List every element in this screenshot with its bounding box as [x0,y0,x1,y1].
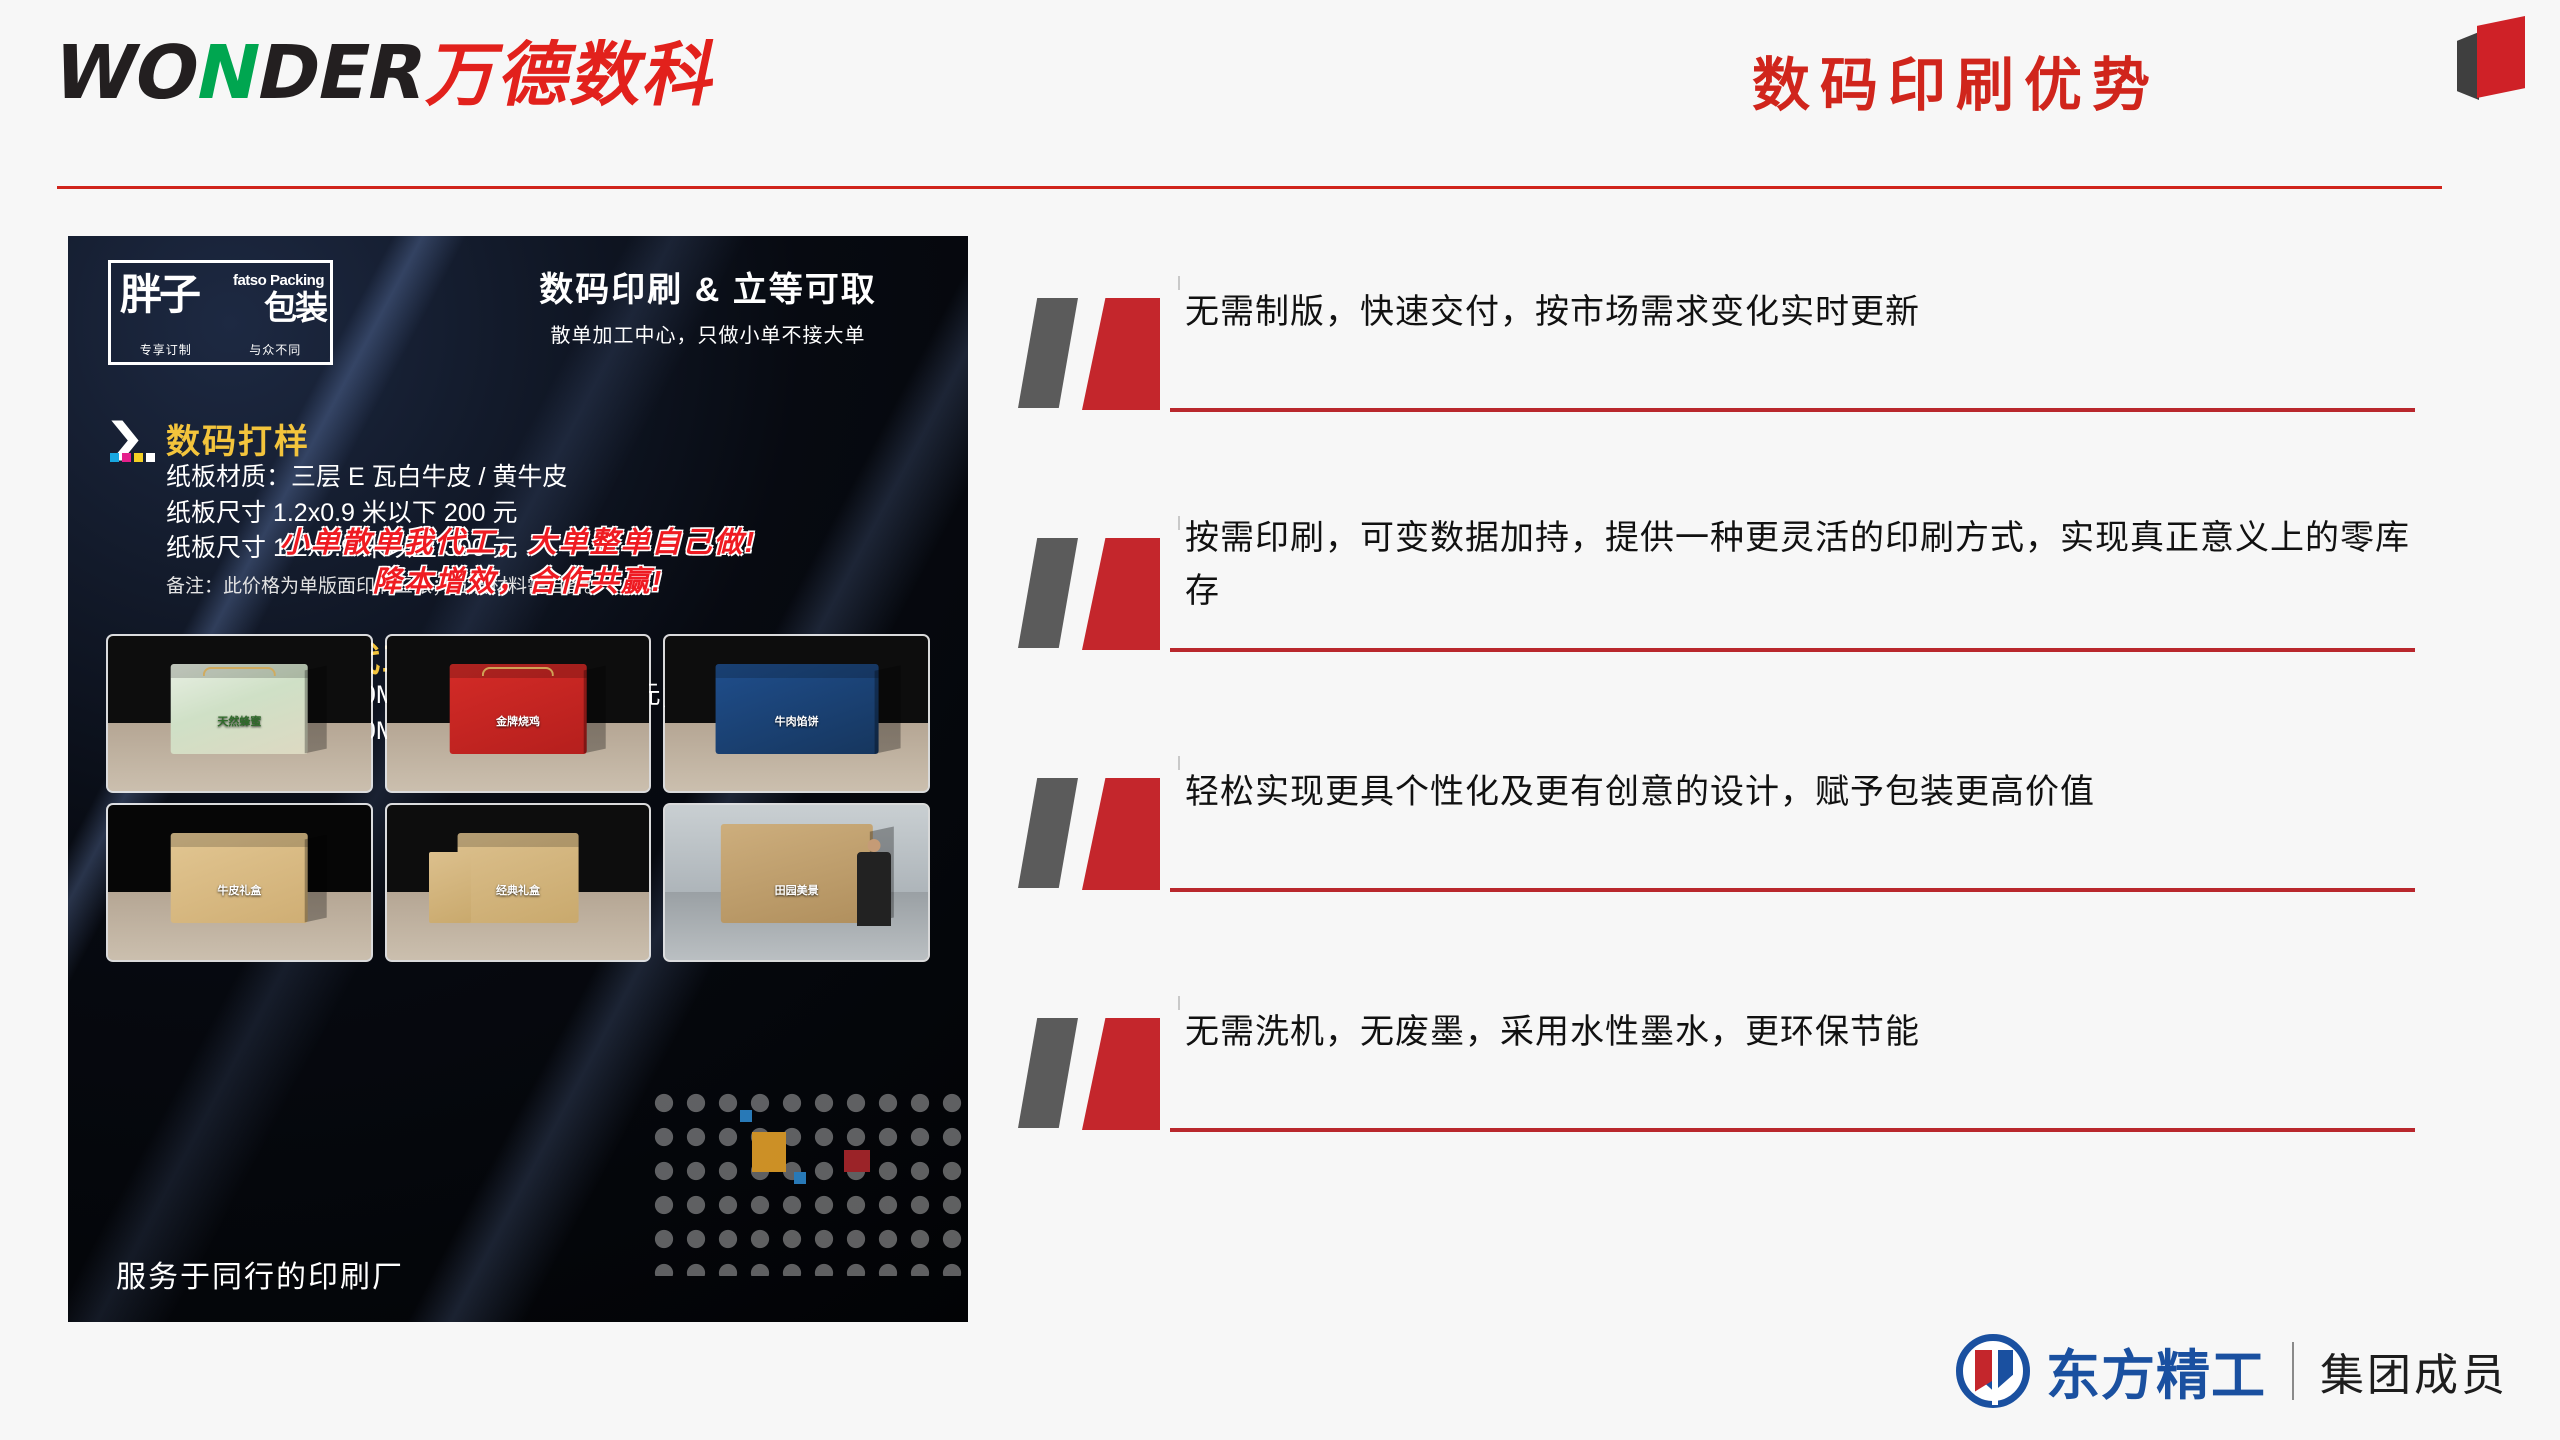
wonder-logo: WONDER 万德数科 [48,38,726,108]
advantage-item: 按需印刷，可变数据加持，提供一种更灵活的印刷方式，实现真正意义上的零库存 [1010,510,2470,750]
advantage-text: 无需洗机，无废墨，采用水性墨水，更环保节能 [1185,1006,2410,1059]
section-title: 数码打样 [166,414,310,463]
fatso-logo-tag-left: 专享订制 [140,341,192,358]
dot-accent-blue [740,1110,752,1122]
product-photo: 经典礼盒 [387,805,650,960]
product-box [171,833,308,923]
advantage-text: 按需印刷，可变数据加持，提供一种更灵活的印刷方式，实现真正意义上的零库存 [1185,512,2410,617]
product-box [450,664,587,754]
advantage-item: 无需洗机，无废墨，采用水性墨水，更环保节能 [1010,990,2470,1230]
corner-book-icon [2455,10,2555,105]
box-handle [482,667,554,676]
box-handle [203,667,275,676]
page-title: 数码印刷优势 [1752,38,2160,122]
cmyk-dot-key [146,453,155,462]
product-box [171,664,308,754]
tick-mark [1178,996,1180,1010]
wonder-logo-latin-pre: WO [46,30,207,116]
double-slash-icon-red [1082,298,1160,410]
product-box [715,664,878,754]
tick-mark [1178,276,1180,290]
product-box [720,824,872,923]
poster-slogan-line1: 小单散单我代工，大单整单自己做! [68,524,968,563]
double-slash-icon-red [1082,1018,1160,1130]
poster-headline: 数码印刷 & 立等可取 [488,262,928,311]
double-slash-icon-gray [1018,778,1078,888]
advantage-underline [1170,648,2415,652]
product-caption: 金牌烧鸡 [496,713,540,729]
advantage-underline [1170,1128,2415,1132]
double-slash-icon [1010,538,1180,650]
footer-member-label: 集团成员 [2320,1339,2508,1403]
poster-headline-block: 数码印刷 & 立等可取 散单加工中心，只做小单不接大单 [488,262,928,348]
wonder-logo-latin-post: DER [249,30,433,116]
corner-book-icon-dark [2457,32,2479,100]
double-slash-icon-gray [1018,298,1078,408]
fatso-logo-english: fatso Packing [233,272,324,289]
fatso-logo-main-cn: 胖子 [120,274,198,316]
dongfang-emblem-icon [1956,1334,2030,1408]
poster-slogan-line2: 降本增效，合作共赢! [68,563,968,602]
decorative-dot-pattern [648,1086,968,1276]
cmyk-dot-cyan [110,453,119,462]
advantages-list: 无需制版，快速交付，按市场需求变化实时更新 按需印刷，可变数据加持，提供一种更灵… [1010,270,2470,1230]
fatso-packing-logo: 胖子 fatso Packing 包装 专享订制 与众不同 [108,260,333,365]
product-caption: 田园美景 [775,882,819,898]
chevron-right-icon: ❯ [104,418,146,458]
fatso-logo-taglines: 专享订制 与众不同 [111,341,330,358]
double-slash-icon-red [1082,538,1160,650]
cmyk-dot-yellow [134,453,143,462]
product-caption: 经典礼盒 [496,882,540,898]
product-photo: 金牌烧鸡 [387,636,650,791]
footer-company-name: 东方精工 [2046,1331,2266,1410]
dot-accent-blue [794,1172,806,1184]
advantage-item: 无需制版，快速交付，按市场需求变化实时更新 [1010,270,2470,510]
advantage-item: 轻松实现更具个性化及更有创意的设计，赋予包装更高价值 [1010,750,2470,990]
advantage-underline [1170,408,2415,412]
double-slash-icon [1010,1018,1180,1130]
person-silhouette [857,852,891,926]
wonder-logo-latin: WONDER [48,38,432,108]
double-slash-icon-red [1082,778,1160,890]
product-photo-grid: 天然蜂蜜 金牌烧鸡 牛肉馅饼 牛皮礼盒 经典礼盒 [108,636,928,960]
fatso-logo-sub-cn: 包装 [264,291,326,324]
product-photo: 田园美景 [665,805,928,960]
footer-divider [2292,1342,2294,1400]
product-box [458,833,579,923]
cmyk-dot-magenta [122,453,131,462]
chevron-cmyk-icon: ❯ [108,418,162,464]
double-slash-icon-gray [1018,538,1078,648]
double-slash-icon [1010,298,1180,410]
header-divider [57,186,2442,189]
product-photo: 牛皮礼盒 [108,805,371,960]
advantage-text: 轻松实现更具个性化及更有创意的设计，赋予包装更高价值 [1185,766,2410,819]
page-header: WONDER 万德数科 数码印刷优势 [0,0,2560,200]
wonder-logo-chinese: 万德数科 [423,42,725,109]
dot-accent-orange [752,1132,786,1172]
product-caption: 牛皮礼盒 [217,882,261,898]
product-photo: 天然蜂蜜 [108,636,371,791]
dot-accent-red [844,1150,870,1172]
promo-poster-image: 胖子 fatso Packing 包装 专享订制 与众不同 数码印刷 & 立等可… [68,236,968,1322]
tick-mark [1178,756,1180,770]
poster-slogan: 小单散单我代工，大单整单自己做! 降本增效，合作共赢! [68,524,968,602]
section-line: 纸板材质：三层 E 瓦白牛皮 / 黄牛皮 [166,460,603,496]
double-slash-icon [1010,778,1180,890]
group-member-logo: 东方精工 集团成员 [1956,1331,2508,1410]
fatso-logo-tag-right: 与众不同 [249,341,301,358]
product-box-secondary [429,852,471,923]
advantage-text: 无需制版，快速交付，按市场需求变化实时更新 [1185,286,2410,339]
poster-subheadline: 散单加工中心，只做小单不接大单 [488,319,928,348]
product-photo: 牛肉馅饼 [665,636,928,791]
product-caption: 天然蜂蜜 [217,713,261,729]
advantage-underline [1170,888,2415,892]
corner-book-icon-red [2477,16,2525,98]
tick-mark [1178,516,1180,530]
emblem-bar [1992,1345,1998,1405]
double-slash-icon-gray [1018,1018,1078,1128]
product-caption: 牛肉馅饼 [775,713,819,729]
poster-footer-text: 服务于同行的印刷厂 [116,1252,404,1296]
